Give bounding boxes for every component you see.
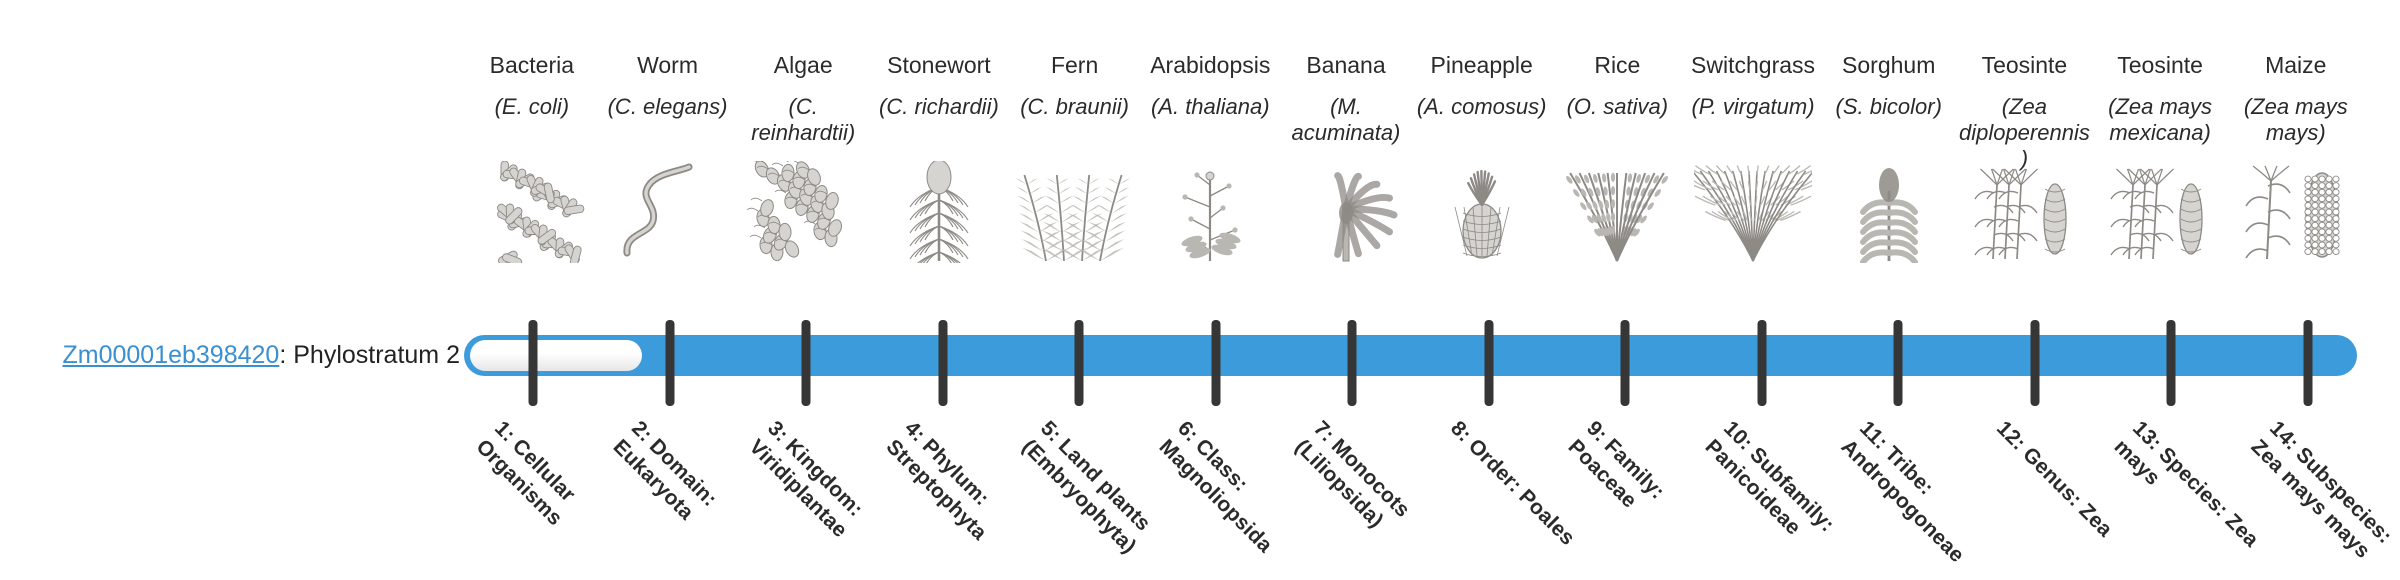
species-common-name: Rice xyxy=(1594,52,1640,82)
species-column: Stonewort(C. richardii) xyxy=(871,52,1007,263)
rank-label: 4: Phylum: Streptophyta xyxy=(880,416,1043,579)
rank-label: 1: Cellular Organisms xyxy=(471,416,634,579)
species-column: Bacteria(E. coli) xyxy=(464,52,600,263)
rank-label: 10: Subfamily: Panicoideae xyxy=(1699,416,1862,579)
bacteria-icon xyxy=(472,158,592,263)
species-common-name: Arabidopsis xyxy=(1150,52,1270,82)
species-column: Banana(M. acuminata) xyxy=(1278,52,1414,263)
rank-text: Species: Zea mays xyxy=(2110,435,2263,552)
species-column: Algae(C. reinhardtii) xyxy=(735,52,871,263)
rank-label: 5: Land plants (Embryophyta) xyxy=(1017,416,1180,579)
rank-label: 8: Order: Poales xyxy=(1444,416,1589,561)
phylostratum-tick[interactable] xyxy=(802,320,811,406)
rank-text: Cellular Organisms xyxy=(472,434,580,529)
rank-text: Genus: Zea xyxy=(2018,443,2117,542)
rank-label: 6: Class: Magnoliopsida xyxy=(1153,416,1316,579)
gene-label-separator: : xyxy=(279,341,293,369)
species-common-name: Stonewort xyxy=(887,52,991,82)
phylostratum-progress-capsule xyxy=(470,340,642,371)
species-columns: Bacteria(E. coli)Worm(C. elegans) Algae(… xyxy=(464,52,2364,302)
gene-phylostratum-label: Zm00001eb398420: Phylostratum 2 xyxy=(40,340,460,370)
phylostratum-tick[interactable] xyxy=(2030,320,2039,406)
banana-plant-icon xyxy=(1286,158,1406,263)
species-column: Teosinte(Zea diploperennis) xyxy=(1957,52,2093,263)
species-common-name: Bacteria xyxy=(490,52,574,82)
phylostratum-tick[interactable] xyxy=(1757,320,1766,406)
switchgrass-icon xyxy=(1693,158,1813,263)
species-common-name: Maize xyxy=(2265,52,2326,82)
species-latin-name: (Zea mays mexicana) xyxy=(2094,94,2226,156)
species-column: Rice(O. sativa) xyxy=(1550,52,1686,263)
rank-number: 12: xyxy=(1992,417,2030,455)
phylostratum-value: Phylostratum 2 xyxy=(293,341,460,369)
stonewort-icon xyxy=(879,158,999,263)
phylostratum-tick[interactable] xyxy=(2303,320,2312,406)
gene-id-link[interactable]: Zm00001eb398420 xyxy=(62,341,279,369)
species-common-name: Algae xyxy=(774,52,833,82)
phylostratum-tick[interactable] xyxy=(529,320,538,406)
rank-text: Phylum: Streptophyta xyxy=(881,434,993,544)
species-common-name: Switchgrass xyxy=(1691,52,1815,82)
rank-label: 12: Genus: Zea xyxy=(1990,416,2135,561)
species-latin-name: (E. coli) xyxy=(466,94,598,156)
species-latin-name: (Zea mays mays) xyxy=(2230,94,2362,156)
species-column: Teosinte(Zea mays mexicana) xyxy=(2092,52,2228,263)
rank-label: 11: Tribe: Andropogoneae xyxy=(1836,416,1999,579)
phylostratum-tick[interactable] xyxy=(1894,320,1903,406)
species-common-name: Banana xyxy=(1306,52,1385,82)
species-latin-name: (C. richardii) xyxy=(873,94,1005,156)
rank-label: 2: Domain: Eukaryota xyxy=(607,416,770,579)
rank-label: 7: Monocots (Liliopsida) xyxy=(1290,416,1453,579)
species-column: Maize(Zea mays mays) xyxy=(2228,52,2364,263)
species-column: Arabidopsis(A. thaliana) xyxy=(1142,52,1278,263)
rank-text: Kingdom: Viridiplantae xyxy=(745,434,868,541)
species-common-name: Worm xyxy=(637,52,698,82)
rank-label: 9: Family: Poaceae xyxy=(1563,416,1726,579)
species-latin-name: (C. reinhardtii) xyxy=(737,94,869,156)
pineapple-icon xyxy=(1422,158,1542,263)
fern-icon xyxy=(1015,158,1135,263)
rice-plant-icon xyxy=(1557,158,1677,263)
phylostratum-tick[interactable] xyxy=(665,320,674,406)
species-latin-name: (A. thaliana) xyxy=(1144,94,1276,156)
rank-label: 3: Kingdom: Viridiplantae xyxy=(744,416,907,579)
phylostratum-tick[interactable] xyxy=(1484,320,1493,406)
phylostratum-tick[interactable] xyxy=(2167,320,2176,406)
rank-text: Domain: Eukaryota xyxy=(608,434,721,524)
species-column: Pineapple(A. comosus) xyxy=(1414,52,1550,263)
maize-icon xyxy=(2236,158,2356,263)
species-common-name: Sorghum xyxy=(1842,52,1935,82)
species-latin-name: (S. bicolor) xyxy=(1823,94,1955,156)
species-latin-name: (O. sativa) xyxy=(1551,94,1683,156)
phylostratum-tick[interactable] xyxy=(1211,320,1220,406)
species-latin-name: (A. comosus) xyxy=(1416,94,1548,156)
species-column: Worm(C. elegans) xyxy=(600,52,736,263)
nematode-worm-icon xyxy=(608,158,728,263)
species-latin-name: (M. acuminata) xyxy=(1280,94,1412,156)
rank-text: Family: Poaceae xyxy=(1564,434,1669,512)
species-common-name: Fern xyxy=(1051,52,1098,82)
species-latin-name: (P. virgatum) xyxy=(1687,94,1819,156)
species-latin-name: (C. elegans) xyxy=(602,94,734,156)
species-common-name: Teosinte xyxy=(1982,52,2068,82)
phylostratum-tick[interactable] xyxy=(938,320,947,406)
phylostratum-tick[interactable] xyxy=(1348,320,1357,406)
species-column: Switchgrass(P. virgatum) xyxy=(1685,52,1821,263)
species-column: Fern(C. braunii) xyxy=(1007,52,1143,263)
rank-label: 14: Subspecies: Zea mays mays xyxy=(2245,416,2400,579)
species-common-name: Teosinte xyxy=(2117,52,2203,82)
species-latin-name: (Zea diploperennis) xyxy=(1958,94,2090,156)
rank-text: Subfamily: Panicoideae xyxy=(1700,435,1838,539)
arabidopsis-icon xyxy=(1150,158,1270,263)
phylostratum-tick[interactable] xyxy=(1075,320,1084,406)
teosinte-mexicana-icon xyxy=(2100,158,2220,263)
phylostratum-figure: Zm00001eb398420: Phylostratum 2 Bacteria… xyxy=(0,0,2400,580)
phylostratum-tick[interactable] xyxy=(1621,320,1630,406)
phylostratum-bar-track[interactable] xyxy=(464,335,2357,376)
green-algae-cells-icon xyxy=(743,158,863,263)
sorghum-icon xyxy=(1829,158,1949,263)
rank-label: 13: Species: Zea mays xyxy=(2109,416,2272,579)
species-latin-name: (C. braunii) xyxy=(1009,94,1141,156)
species-common-name: Pineapple xyxy=(1431,52,1533,82)
rank-text: Monocots (Liliopsida) xyxy=(1291,434,1414,532)
species-column: Sorghum(S. bicolor) xyxy=(1821,52,1957,263)
teosinte-diploperennis-icon xyxy=(1964,158,2084,263)
